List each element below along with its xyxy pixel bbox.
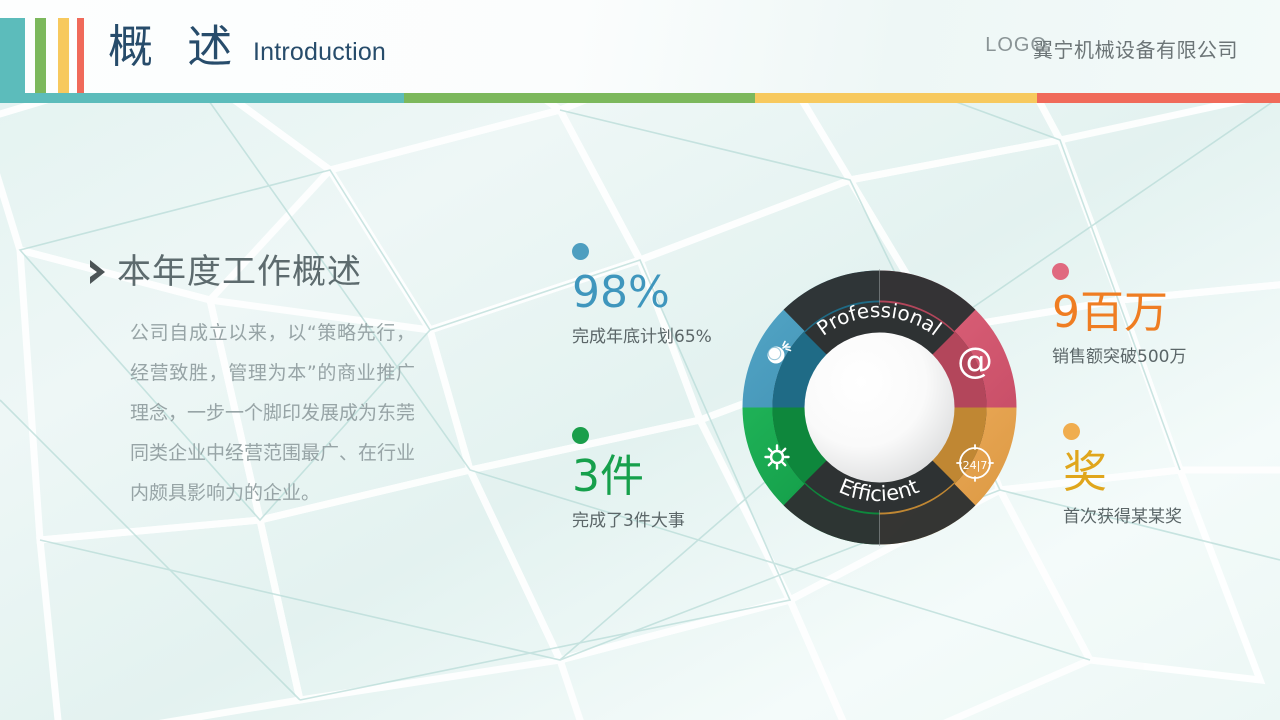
header-rainbow-rule — [0, 93, 1280, 103]
chevron-right-icon — [88, 257, 108, 287]
stat-bullet-dot — [572, 243, 589, 260]
stat-bullet-dot — [1063, 423, 1080, 440]
stat-bullet-dot — [1052, 263, 1069, 280]
stat-value: 奖 — [1063, 446, 1182, 500]
stat-caption: 首次获得某某奖 — [1063, 502, 1182, 527]
header-accent-bar-red — [77, 18, 84, 93]
stat-value: 3件 — [572, 450, 685, 504]
slide-canvas: 概 述 Introduction LOGO 翼宁机械设备有限公司 本年度工作概述… — [0, 0, 1280, 720]
overview-heading: 本年度工作概述 — [117, 250, 362, 294]
header-accent-bar-green — [35, 18, 46, 93]
stat-value: 98% — [572, 266, 712, 320]
page-title-cn: 概 述 — [108, 17, 242, 77]
overview-text-column: 本年度工作概述 公司自成立以来，以“策略先行，经营致胜，管理为本”的商业推广理念… — [88, 250, 428, 513]
company-name: 翼宁机械设备有限公司 — [1033, 34, 1238, 63]
donut-core — [805, 333, 955, 483]
rule-segment-yellow — [755, 93, 1037, 103]
donut-infographic: Professional Efficient — [737, 265, 1022, 550]
at-icon: @ — [957, 341, 993, 382]
stat-caption: 完成了3件大事 — [572, 506, 685, 531]
stat-card-completion: 98% 完成年底计划65% — [572, 243, 712, 347]
stat-caption: 销售额突破500万 — [1052, 342, 1186, 367]
overview-heading-row: 本年度工作概述 — [88, 250, 428, 294]
stat-bullet-dot — [572, 427, 589, 444]
page-title-en: Introduction — [253, 38, 386, 67]
stat-card-sales: 9百万 销售额突破500万 — [1052, 263, 1186, 367]
rule-segment-teal — [0, 93, 404, 103]
stat-value: 9百万 — [1052, 286, 1186, 340]
clock-24-7-label: 24|7 — [963, 459, 988, 472]
header-accent-block-teal — [0, 18, 25, 93]
stat-caption: 完成年底计划65% — [572, 322, 712, 347]
slide-header: 概 述 Introduction LOGO 翼宁机械设备有限公司 — [0, 0, 1280, 103]
overview-body-text: 公司自成立以来，以“策略先行，经营致胜，管理为本”的商业推广理念，一步一个脚印发… — [130, 313, 415, 513]
stat-card-award: 奖 首次获得某某奖 — [1063, 423, 1182, 527]
header-accent-bar-yellow — [58, 18, 69, 93]
rule-segment-green — [404, 93, 755, 103]
donut-svg: Professional Efficient — [737, 265, 1022, 550]
stat-card-milestones: 3件 完成了3件大事 — [572, 427, 685, 531]
rule-segment-red — [1037, 93, 1280, 103]
